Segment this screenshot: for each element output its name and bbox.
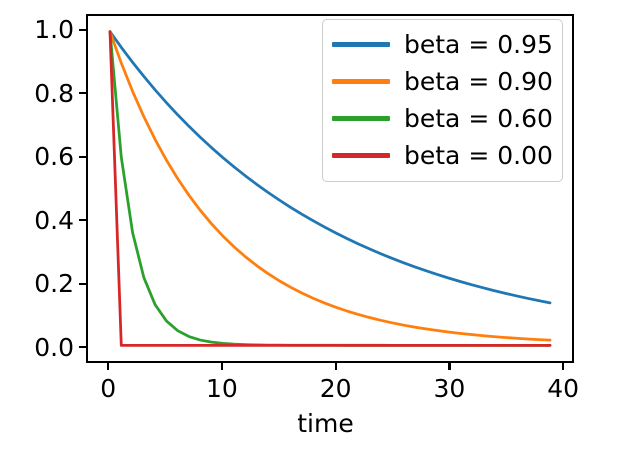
legend-item[interactable]: beta = 0.00 bbox=[332, 137, 553, 174]
x-tick-label: 0 bbox=[100, 376, 116, 401]
y-tick-label: 0.4 bbox=[34, 208, 74, 233]
y-tick-mark bbox=[79, 29, 86, 31]
legend-line-swatch bbox=[332, 116, 390, 121]
legend-item[interactable]: beta = 0.90 bbox=[332, 63, 553, 100]
y-tick-mark bbox=[79, 92, 86, 94]
y-tick-label: 0.6 bbox=[34, 144, 74, 169]
legend-line-swatch bbox=[332, 42, 390, 47]
y-tick-label: 0.2 bbox=[34, 271, 74, 296]
x-tick-mark bbox=[448, 363, 450, 370]
x-tick-label: 10 bbox=[206, 376, 238, 401]
legend-item-label: beta = 0.60 bbox=[404, 106, 553, 131]
legend-line-swatch bbox=[332, 153, 390, 158]
legend-line-swatch bbox=[332, 79, 390, 84]
legend-item[interactable]: beta = 0.95 bbox=[332, 26, 553, 63]
y-tick-label: 0.8 bbox=[34, 81, 74, 106]
x-tick-mark bbox=[107, 363, 109, 370]
y-tick-label: 1.0 bbox=[34, 17, 74, 42]
x-tick-label: 40 bbox=[547, 376, 579, 401]
y-tick-mark bbox=[79, 346, 86, 348]
legend-item-label: beta = 0.00 bbox=[404, 143, 553, 168]
legend: beta = 0.95beta = 0.90beta = 0.60beta = … bbox=[322, 19, 563, 182]
x-axis-label: time bbox=[0, 411, 637, 436]
legend-item[interactable]: beta = 0.60 bbox=[332, 100, 553, 137]
y-tick-mark bbox=[79, 156, 86, 158]
x-tick-mark bbox=[562, 363, 564, 370]
x-tick-mark bbox=[335, 363, 337, 370]
x-tick-label: 30 bbox=[434, 376, 466, 401]
legend-item-label: beta = 0.90 bbox=[404, 69, 553, 94]
x-tick-mark bbox=[221, 363, 223, 370]
x-axis-label-text: time bbox=[297, 411, 353, 436]
chart-figure: 0.00.20.40.60.81.0 010203040 time beta =… bbox=[0, 0, 637, 463]
x-tick-label: 20 bbox=[320, 376, 352, 401]
y-tick-label: 0.0 bbox=[34, 335, 74, 360]
y-tick-mark bbox=[79, 219, 86, 221]
y-tick-mark bbox=[79, 283, 86, 285]
legend-item-label: beta = 0.95 bbox=[404, 32, 553, 57]
